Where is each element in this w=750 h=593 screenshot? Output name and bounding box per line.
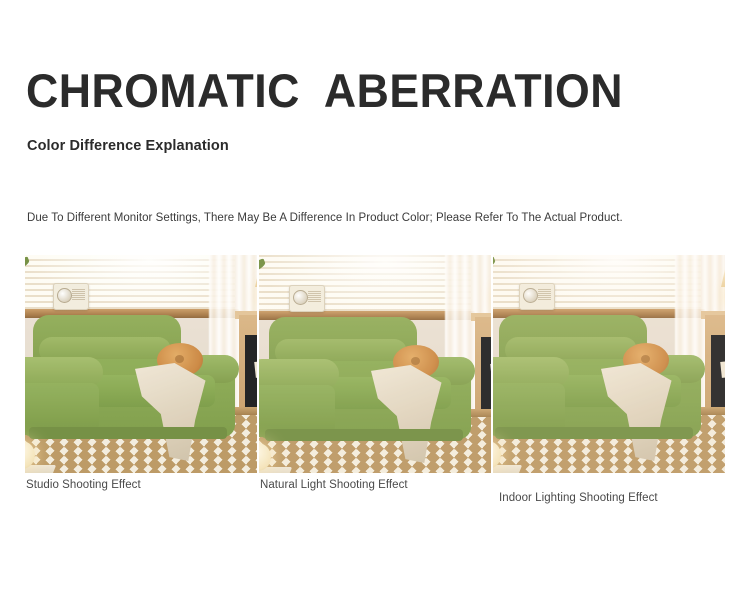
plant xyxy=(25,255,43,301)
sofa-base xyxy=(495,427,693,439)
retro-radio xyxy=(53,283,89,310)
room-scene xyxy=(493,255,725,473)
color-difference-note: Due To Different Monitor Settings, There… xyxy=(27,212,623,224)
caption-indoor-lighting: Indoor Lighting Shooting Effect xyxy=(488,478,725,505)
gallery-captions: Studio Shooting Effect Natural Light Sho… xyxy=(25,478,725,505)
room-scene xyxy=(259,255,491,473)
plant xyxy=(259,255,279,303)
lamp-tray xyxy=(493,465,522,473)
room-scene xyxy=(25,255,257,473)
page-title: CHROMATIC ABERRATION xyxy=(26,66,623,115)
product-image-natural-light[interactable] xyxy=(259,255,491,473)
caption-natural-light: Natural Light Shooting Effect xyxy=(254,478,486,505)
product-image-studio[interactable] xyxy=(25,255,257,473)
sofa-base xyxy=(265,429,463,441)
sofa-base xyxy=(29,427,227,439)
plant xyxy=(493,255,509,301)
page-subtitle: Color Difference Explanation xyxy=(27,138,229,154)
retro-radio xyxy=(519,283,555,310)
caption-studio: Studio Shooting Effect xyxy=(25,478,252,505)
chromatic-aberration-page: CHROMATIC ABERRATION Color Difference Ex… xyxy=(0,0,750,593)
product-image-indoor-lighting[interactable] xyxy=(493,255,725,473)
retro-radio xyxy=(289,285,325,312)
product-image-gallery xyxy=(25,255,725,473)
